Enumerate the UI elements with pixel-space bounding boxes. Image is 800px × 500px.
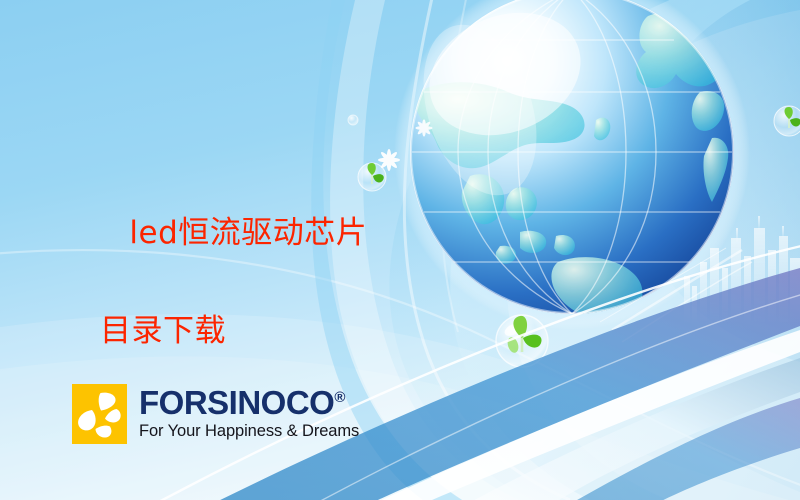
brand-name: FORSINOCO xyxy=(139,384,334,421)
headline-line-1: led恒流驱动芯片 xyxy=(129,215,367,251)
brand-wordmark-group: FORSINOCO® For Your Happiness & Dreams xyxy=(139,386,359,440)
brand-tagline: For Your Happiness & Dreams xyxy=(139,422,359,440)
poster-canvas: led恒流驱动芯片 目录下载 FORSINOCO® For Your Happi… xyxy=(0,0,800,500)
bubble-sprout-corner xyxy=(774,106,800,136)
four-petal-flower-icon xyxy=(72,384,127,444)
sparkle-asterisk xyxy=(415,119,432,136)
bubble-tiny xyxy=(348,115,358,125)
headline-line-2: 目录下载 xyxy=(88,307,418,356)
brand-logo: FORSINOCO® For Your Happiness & Dreams xyxy=(72,384,359,444)
brand-wordmark: FORSINOCO® xyxy=(139,386,359,419)
registered-mark: ® xyxy=(334,389,345,406)
